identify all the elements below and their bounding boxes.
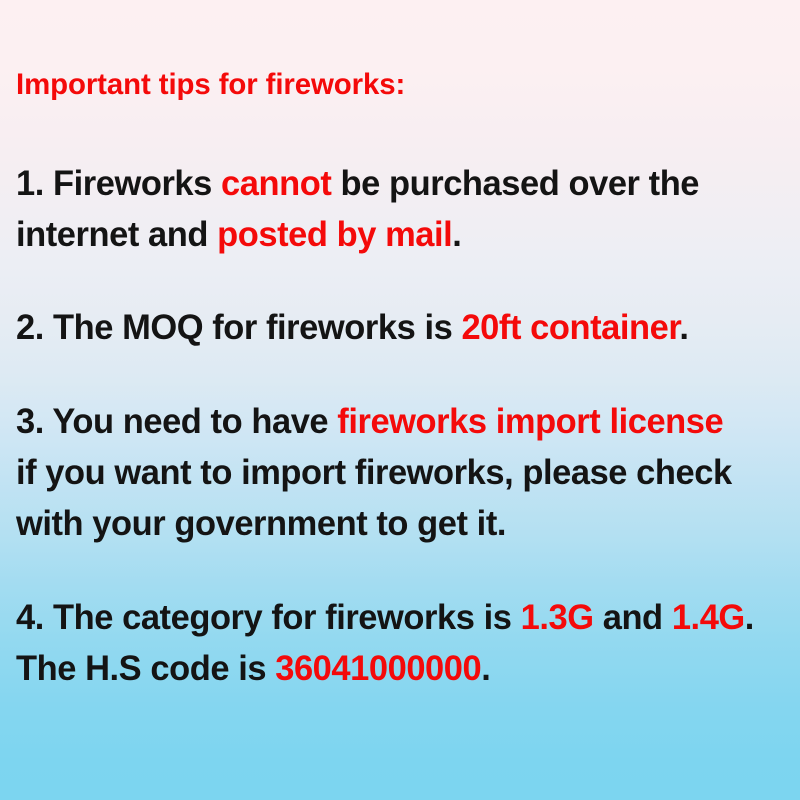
tip-text: .	[745, 598, 754, 637]
tip-highlight: 20ft container	[461, 308, 679, 347]
tip-text: The H.S code is	[16, 649, 275, 688]
tip-text: 4. The category for fireworks is	[16, 598, 521, 637]
tip-text: .	[452, 215, 461, 254]
tip-item-1-line-2: internet and posted by mail.	[16, 209, 776, 260]
tip-highlight: fireworks import license	[337, 402, 723, 441]
tip-text: and	[594, 598, 672, 637]
tip-highlight-hs-code: 36041000000	[275, 649, 481, 688]
tip-highlight: posted by mail	[217, 215, 452, 254]
tip-text: 3. You need to have	[16, 402, 337, 441]
tip-text: .	[679, 308, 688, 347]
tip-text: if you want to import fireworks, please …	[16, 453, 732, 492]
tip-item-2-line-1: 2. The MOQ for fireworks is 20ft contain…	[16, 302, 776, 353]
tip-item-3-line-3: with your government to get it.	[16, 498, 776, 549]
tip-text: internet and	[16, 215, 217, 254]
tip-item-4-line-1: 4. The category for fireworks is 1.3G an…	[16, 592, 776, 643]
tip-item-2: 2. The MOQ for fireworks is 20ft contain…	[16, 302, 776, 353]
tip-text: .	[481, 649, 490, 688]
tip-item-3: 3. You need to have fireworks import lic…	[16, 396, 776, 549]
tip-text: 1. Fireworks	[16, 164, 221, 203]
page-title: Important tips for fireworks:	[16, 68, 405, 101]
tip-highlight-category-1: 1.3G	[521, 598, 594, 637]
tip-highlight: cannot	[221, 164, 331, 203]
tip-item-1: 1. Fireworks cannot be purchased over th…	[16, 158, 776, 260]
fireworks-tips-poster: Important tips for fireworks: 1. Firewor…	[0, 0, 800, 800]
tip-item-4-line-2: The H.S code is 36041000000.	[16, 643, 776, 694]
tip-highlight-category-2: 1.4G	[672, 598, 745, 637]
tip-item-3-line-2: if you want to import fireworks, please …	[16, 447, 776, 498]
tip-item-4: 4. The category for fireworks is 1.3G an…	[16, 592, 776, 694]
tip-text: 2. The MOQ for fireworks is	[16, 308, 461, 347]
tip-item-3-line-1: 3. You need to have fireworks import lic…	[16, 396, 776, 447]
tip-text: with your government to get it.	[16, 504, 506, 543]
tip-text: be purchased over the	[331, 164, 699, 203]
tip-item-1-line-1: 1. Fireworks cannot be purchased over th…	[16, 158, 776, 209]
